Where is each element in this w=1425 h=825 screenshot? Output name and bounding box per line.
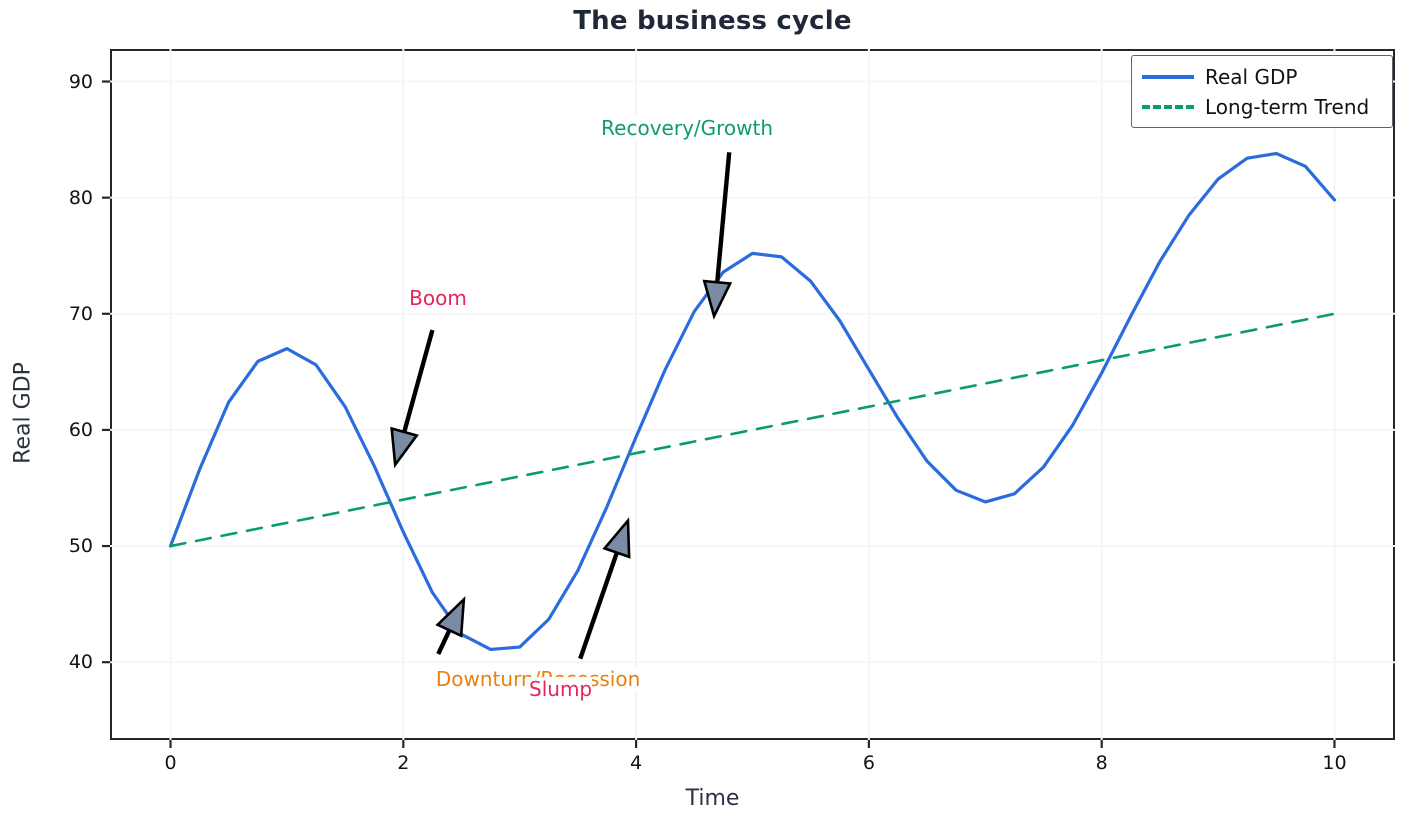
annotation-label-slump: Slump: [529, 677, 592, 701]
legend-swatch-dashed-line: [1142, 99, 1194, 115]
x-tick-label: 8: [1096, 752, 1108, 774]
page-title: The business cycle: [0, 6, 1425, 36]
chart-legend[interactable]: Real GDP Long-term Trend: [1131, 55, 1393, 128]
legend-item-real-gdp[interactable]: Real GDP: [1142, 62, 1382, 92]
x-tick-label: 0: [164, 752, 176, 774]
plot-area: [110, 49, 1395, 740]
annotation-label-boom: Boom: [409, 286, 467, 310]
legend-label-long-term-trend: Long-term Trend: [1205, 95, 1369, 119]
y-tick-label: 80: [69, 187, 93, 209]
x-tick-label: 6: [863, 752, 875, 774]
x-tick-label: 2: [397, 752, 409, 774]
legend-label-real-gdp: Real GDP: [1205, 65, 1297, 89]
y-tick-label: 40: [69, 651, 93, 673]
x-axis-label: Time: [0, 786, 1425, 811]
legend-swatch-solid-line: [1142, 69, 1194, 85]
y-tick-label: 50: [69, 535, 93, 557]
annotation-label-recovery: Recovery/Growth: [601, 116, 773, 140]
x-tick-label: 4: [630, 752, 642, 774]
x-tick-label: 10: [1322, 752, 1346, 774]
y-tick-label: 90: [69, 71, 93, 93]
y-axis-label: Real GDP: [10, 362, 35, 464]
chart-figure: The business cycle 405060708090 0246810 …: [0, 0, 1425, 825]
y-tick-label: 70: [69, 303, 93, 325]
y-tick-label: 60: [69, 419, 93, 441]
legend-item-long-term-trend[interactable]: Long-term Trend: [1142, 92, 1382, 122]
